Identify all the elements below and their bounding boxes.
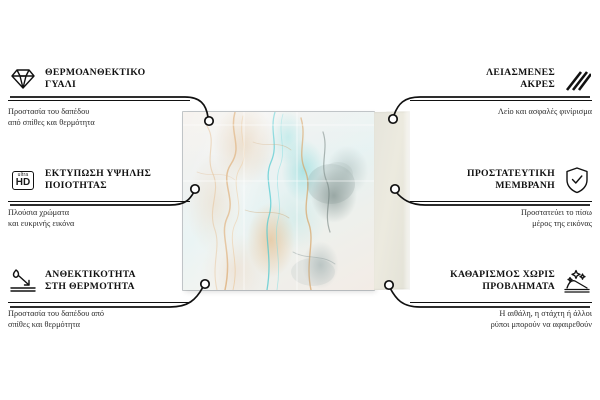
diamond-icon — [8, 64, 38, 94]
feature-title-line1: ΕΚΤΥΠΩΣΗ ΥΨΗΛΗΣ — [45, 168, 151, 179]
ultra-hd-icon: ultra HD — [8, 165, 38, 195]
feature-title-line1: ΠΡΟΣΤΑΤΕΥΤΙΚΗ — [467, 168, 555, 179]
feature-subtitle-line2: σπίθες και θερμότητα — [8, 320, 80, 329]
shield-check-icon — [562, 165, 592, 195]
feature-title: ΘΕΡΜΟΑΝΘΕΚΤΙΚΟ ΓΥΑΛΙ — [45, 67, 146, 92]
flame-deflect-icon — [8, 266, 38, 296]
feature-protective-membrane: ΠΡΟΣΤΑΤΕΥΤΙΚΗ ΜΕΜΒΡΑΝΗ Προστατεύει το πί… — [410, 163, 592, 229]
feature-subtitle-line2: από σπίθες και θερμότητα — [8, 118, 95, 127]
product-image — [183, 112, 410, 290]
feature-subtitle: Η αιθάλη, η στάχτη ή άλλοι ρύποι μπορούν… — [410, 308, 592, 330]
feature-subtitle: Προστατεύει το πίσω μέρος της εικόνας — [410, 207, 592, 229]
feature-title-line1: ΑΝΘΕΚΤΙΚΟΤΗΤΑ — [45, 269, 136, 280]
feature-subtitle-line1: Προστασία του δαπέδου — [8, 107, 89, 116]
feature-subtitle-line2: ρύποι μπορούν να αφαιρεθούν — [491, 320, 592, 329]
feature-title-line1: ΛΕΙΑΣΜΕΝΕΣ — [486, 67, 555, 78]
feature-divider — [8, 201, 190, 202]
feature-divider — [8, 100, 190, 101]
ultra-hd-icon-bottom: HD — [16, 178, 30, 188]
feature-high-quality-print: ultra HD ΕΚΤΥΠΩΣΗ ΥΨΗΛΗΣ ΠΟΙΟΤΗΤΑΣ Πλούσ… — [8, 163, 190, 229]
feature-polished-edges: ΛΕΙΑΣΜΕΝΕΣ ΑΚΡΕΣ Λείο και ασφαλές φινίρι… — [410, 62, 592, 117]
feature-header: ΠΡΟΣΤΑΤΕΥΤΙΚΗ ΜΕΜΒΡΑΝΗ — [410, 163, 592, 197]
feature-subtitle-line2: και ευκρινής εικόνα — [8, 219, 74, 228]
feature-title: ΑΝΘΕΚΤΙΚΟΤΗΤΑ ΣΤΗ ΘΕΡΜΟΤΗΤΑ — [45, 269, 136, 294]
feature-header: ΛΕΙΑΣΜΕΝΕΣ ΑΚΡΕΣ — [410, 62, 592, 96]
feature-heat-durability: ΑΝΘΕΚΤΙΚΟΤΗΤΑ ΣΤΗ ΘΕΡΜΟΤΗΤΑ Προστασία το… — [8, 264, 190, 330]
diagonal-stripes-icon — [562, 64, 592, 94]
feature-header: ΘΕΡΜΟΑΝΘΕΚΤΙΚΟ ΓΥΑΛΙ — [8, 62, 190, 96]
feature-title-line2: ΠΟΙΟΤΗΤΑΣ — [45, 180, 107, 191]
feature-subtitle: Προστασία του δαπέδου από σπίθες και θερ… — [8, 308, 190, 330]
feature-header: ΑΝΘΕΚΤΙΚΟΤΗΤΑ ΣΤΗ ΘΕΡΜΟΤΗΤΑ — [8, 264, 190, 298]
feature-subtitle-line2: μέρος της εικόνας — [532, 219, 592, 228]
feature-title: ΚΑΘΑΡΙΣΜΟΣ ΧΩΡΙΣ ΠΡΟΒΛΗΜΑΤΑ — [450, 269, 555, 294]
feature-subtitle: Πλούσια χρώματα και ευκρινής εικόνα — [8, 207, 190, 229]
feature-heat-resistant-glass: ΘΕΡΜΟΑΝΘΕΚΤΙΚΟ ΓΥΑΛΙ Προστασία του δαπέδ… — [8, 62, 190, 128]
feature-title-line2: ΠΡΟΒΛΗΜΑΤΑ — [482, 281, 555, 292]
feature-subtitle-line1: Λείο και ασφαλές φινίρισμα — [498, 107, 592, 116]
feature-divider — [8, 302, 190, 303]
feature-title-line2: ΓΥΑΛΙ — [45, 79, 76, 90]
feature-title-line2: ΑΚΡΕΣ — [520, 79, 555, 90]
feature-header: ΚΑΘΑΡΙΣΜΟΣ ΧΩΡΙΣ ΠΡΟΒΛΗΜΑΤΑ — [410, 264, 592, 298]
feature-subtitle-line1: Η αιθάλη, η στάχτη ή άλλοι — [499, 309, 592, 318]
feature-subtitle: Προστασία του δαπέδου από σπίθες και θερ… — [8, 106, 190, 128]
feature-title: ΕΚΤΥΠΩΣΗ ΥΨΗΛΗΣ ΠΟΙΟΤΗΤΑΣ — [45, 168, 151, 193]
feature-subtitle: Λείο και ασφαλές φινίρισμα — [410, 106, 592, 117]
feature-easy-cleaning: ΚΑΘΑΡΙΣΜΟΣ ΧΩΡΙΣ ΠΡΟΒΛΗΜΑΤΑ Η αιθάλη, η … — [410, 264, 592, 330]
infographic-canvas: ΘΕΡΜΟΑΝΘΕΚΤΙΚΟ ΓΥΑΛΙ Προστασία του δαπέδ… — [0, 0, 600, 400]
feature-subtitle-line1: Πλούσια χρώματα — [8, 208, 69, 217]
feature-title: ΛΕΙΑΣΜΕΝΕΣ ΑΚΡΕΣ — [486, 67, 555, 92]
sparkle-clean-icon — [562, 266, 592, 296]
feature-title-line1: ΚΑΘΑΡΙΣΜΟΣ ΧΩΡΙΣ — [450, 269, 555, 280]
feature-title-line2: ΣΤΗ ΘΕΡΜΟΤΗΤΑ — [45, 281, 135, 292]
feature-divider — [410, 302, 592, 303]
vein-paths — [183, 112, 374, 290]
feature-title-line1: ΘΕΡΜΟΑΝΘΕΚΤΙΚΟ — [45, 67, 146, 78]
feature-header: ultra HD ΕΚΤΥΠΩΣΗ ΥΨΗΛΗΣ ΠΟΙΟΤΗΤΑΣ — [8, 163, 190, 197]
feature-subtitle-line1: Προστασία του δαπέδου από — [8, 309, 104, 318]
feature-subtitle-line1: Προστατεύει το πίσω — [521, 208, 592, 217]
product-side-panel — [374, 111, 410, 290]
feature-divider — [410, 201, 592, 202]
feature-title: ΠΡΟΣΤΑΤΕΥΤΙΚΗ ΜΕΜΒΡΑΝΗ — [467, 168, 555, 193]
feature-divider — [410, 100, 592, 101]
glass-panel-artwork — [183, 112, 374, 290]
feature-title-line2: ΜΕΜΒΡΑΝΗ — [495, 180, 555, 191]
marble-veins — [183, 112, 374, 290]
